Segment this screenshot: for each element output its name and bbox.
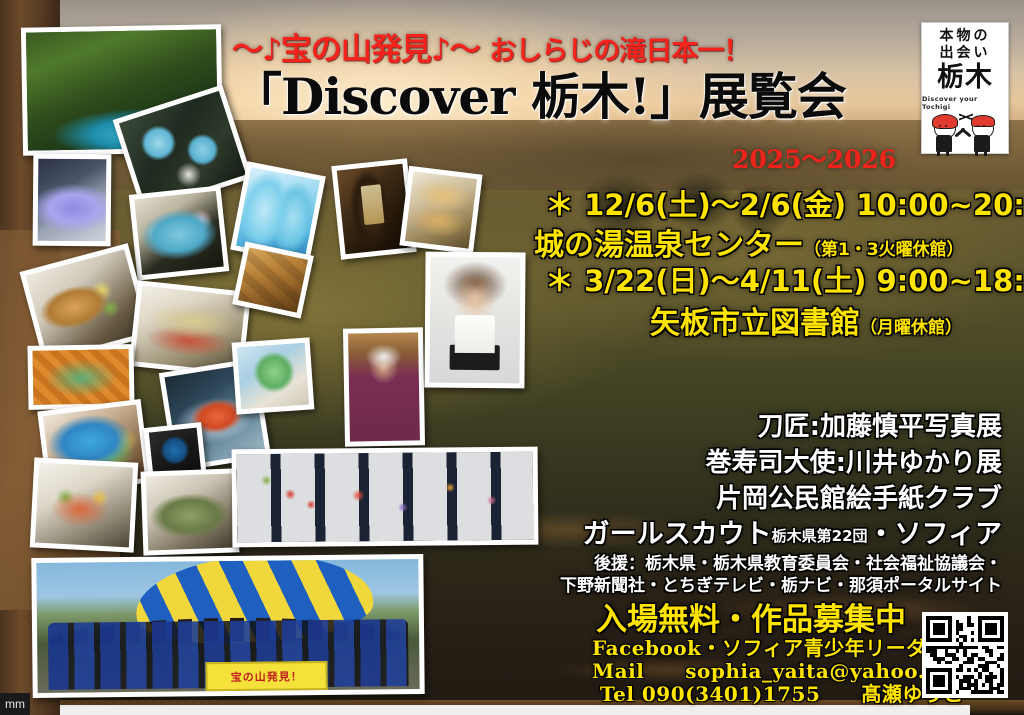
contact-tel: Tel 090(3401)1755 髙瀬ゆうこ <box>600 678 964 707</box>
exhibit-item-2: 巻寿司大使:川井ゆかり展 <box>706 442 1002 479</box>
poster-canvas: 宝の山発見！ 〜♪宝の山発見♪〜 おしらじの滝日本一！ 「Discover 栃木… <box>0 0 1024 715</box>
photo-salad-plate <box>30 457 139 552</box>
photo-sushi-ambassador-portrait <box>424 252 525 389</box>
photo-craftsman-portrait <box>343 327 425 446</box>
photo-blue-bowl <box>33 154 112 247</box>
event-2-venue: 矢板市立図書館（月曜休館） <box>650 298 962 342</box>
edge-measure-marker: mm <box>0 693 30 715</box>
girl-scout-sophia: ・ソフィア <box>868 519 1002 550</box>
photo-soup-bowl <box>141 468 240 555</box>
photo-etegami-display <box>232 447 539 548</box>
group-banner-text: 宝の山発見！ <box>231 668 303 685</box>
girl-scout-label: ガールスカウト <box>583 519 772 550</box>
logo-english-tagline: Discover your Tochigi <box>922 95 1008 111</box>
qr-code-grid <box>926 616 1004 694</box>
logo-line-1: 本物の <box>940 28 991 45</box>
event-1-venue-note: （第1・3火曜休館） <box>804 240 964 260</box>
supporters-line-2: 下野新聞社・とちぎテレビ・栃ナビ・那須ポータルサイト <box>560 571 1002 596</box>
poster-title: 「Discover 栃木!」展覧会 <box>232 66 912 130</box>
logo-prefecture-name: 栃木 <box>937 63 993 93</box>
exhibit-item-3: 片岡公民館絵手紙クラブ <box>716 478 1002 515</box>
photo-waffle-sandwich <box>27 344 134 410</box>
photo-frog-cake <box>232 337 315 414</box>
qr-code[interactable] <box>922 612 1008 698</box>
headline-waterfall-note: おしらじの滝日本一！ <box>489 36 749 67</box>
event-2-date: ＊ 3/22(日)〜4/11(土) 9:00~18:00 <box>545 258 1024 300</box>
tochigi-brand-logo: 本物の 出会い 栃木 Discover your Tochigi <box>921 22 1009 154</box>
photo-packaged-sweets <box>399 166 482 254</box>
logo-line-2: 出会い <box>940 45 991 62</box>
strawberry-mascot-left-icon <box>931 118 957 152</box>
headline-catch: 〜♪宝の山発見♪〜 <box>232 32 480 68</box>
mascot-characters-icon <box>925 112 1005 152</box>
photo-group-balloon: 宝の山発見！ <box>31 554 424 698</box>
photo-blue-sushi-roll <box>129 185 229 280</box>
event-1-date: ＊ 12/6(土)〜2/6(金) 10:00~20:00 <box>545 182 1024 224</box>
year-range: 2025〜2026 <box>732 146 896 174</box>
event-2-venue-name: 矢板市立図書館 <box>650 306 860 341</box>
event-2-venue-note: （月曜休館） <box>860 318 962 338</box>
group-banner: 宝の山発見！ <box>205 661 328 691</box>
sushi-tray <box>449 345 500 371</box>
exhibit-item-4: ガールスカウト栃木県第22団・ソフィア <box>583 512 1002 551</box>
exhibit-item-1: 刀匠:加藤慎平写真展 <box>758 406 1002 443</box>
strawberry-mascot-right-icon <box>969 118 995 152</box>
girl-scout-troop: 栃木県第22団 <box>772 527 868 545</box>
